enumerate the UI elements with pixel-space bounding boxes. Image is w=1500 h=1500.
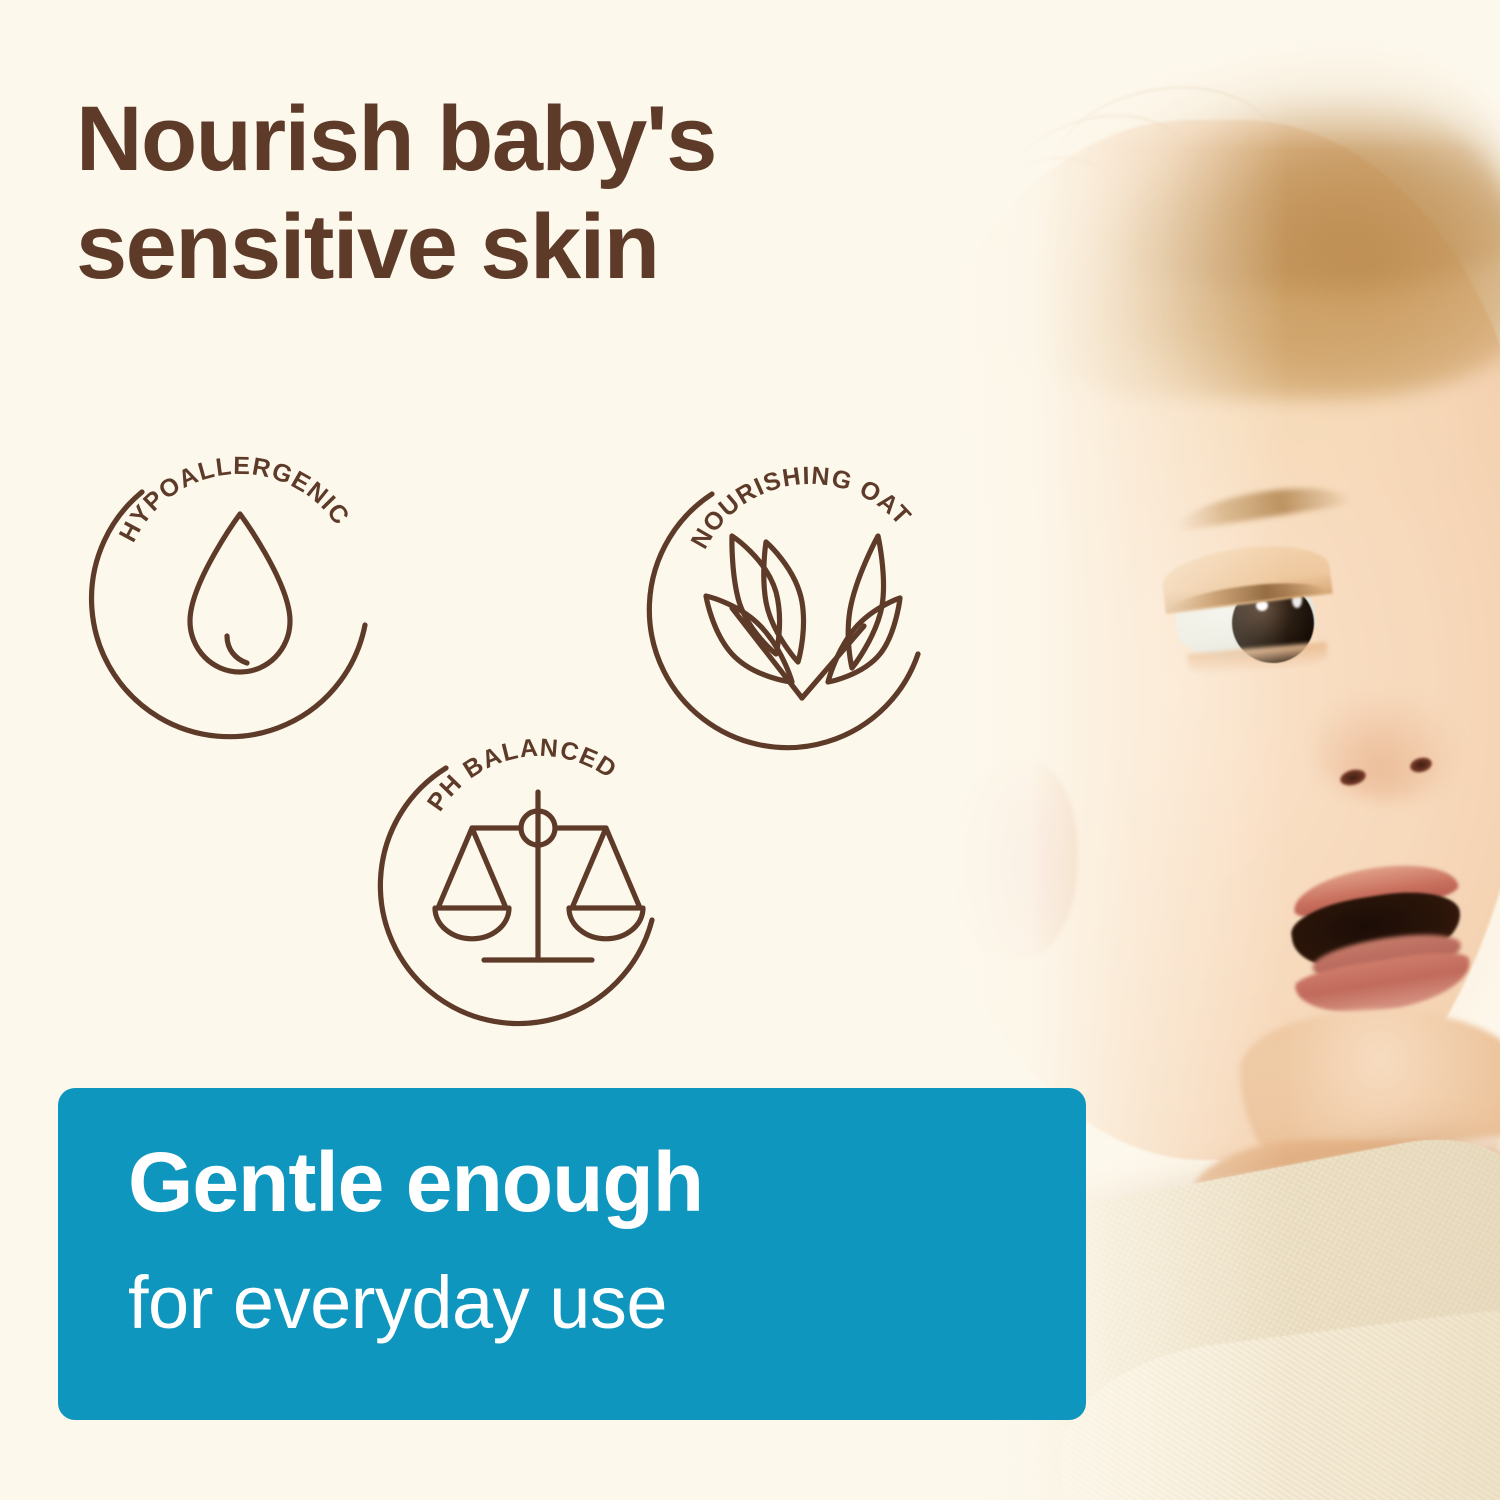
badge-label-hypoallergenic: HYPOALLERGENIC [114, 452, 355, 547]
water-droplet-icon [190, 514, 290, 672]
badge-label-nourishing-oat: NOURISHING OAT [686, 462, 917, 554]
gentle-banner: Gentle enough for everyday use [58, 1088, 1086, 1420]
banner-headline: Gentle enough [128, 1140, 703, 1224]
banner-subheadline: for everyday use [128, 1266, 667, 1340]
baby-nose-shadow [1312, 690, 1462, 800]
oat-sprig-icon [706, 536, 900, 698]
badge-label-ph-balanced: PH BALANCED [422, 734, 622, 817]
badge-hypoallergenic: HYPOALLERGENIC [80, 430, 400, 750]
balance-scale-icon [435, 792, 643, 960]
promo-image: Nourish baby's sensitive skin HYPOALLERG… [0, 0, 1500, 1500]
benefit-badges: HYPOALLERGENIC [0, 0, 1040, 1060]
badge-ph-balanced: PH BALANCED [380, 712, 700, 1032]
badge-ring [380, 768, 652, 1023]
droplet-inner-arc-icon [227, 636, 247, 663]
